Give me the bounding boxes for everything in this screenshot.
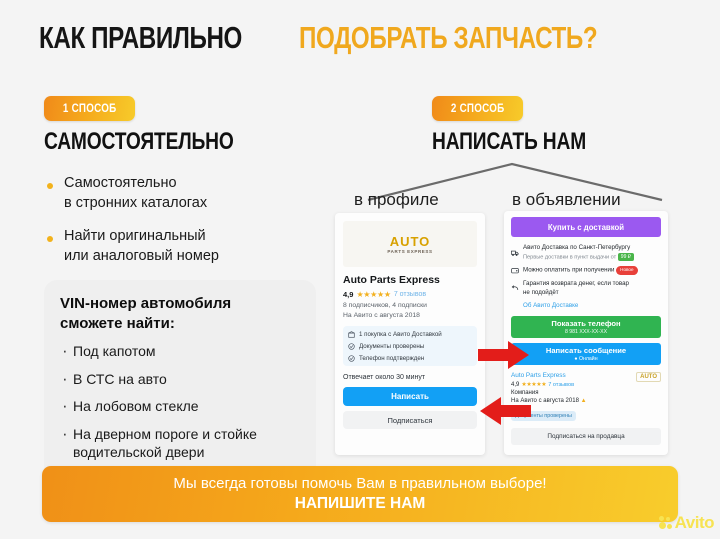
sublabel-advert: в объявлении (512, 190, 621, 210)
headline-part-1: КАК ПРАВИЛЬНО (39, 22, 242, 53)
write-message-button[interactable]: Написать сообщение ● Онлайн (511, 343, 661, 365)
seller-rating-row: 4,9 ★★★★★ 7 отзывов (511, 381, 661, 388)
bullet-text: Самостоятельно в стронних каталогах (64, 174, 207, 213)
method-2-badge: 2 СПОСОБ (432, 96, 523, 121)
phone-masked-text: 8 981 XXX-XX-XX (565, 329, 607, 335)
delivery-sub-text: Первые доставки в пункт выдачи от 99 ₽ (523, 253, 634, 261)
list-item: На лобовом стекле (60, 397, 300, 415)
headline-part-2: ПОДОБРАТЬ ЗАПЧАСТЬ? (299, 22, 597, 53)
avito-wordmark: Avito (675, 513, 714, 533)
profile-screenshot-card: AUTO PARTS EXPRESS Auto Parts Express 4,… (335, 213, 485, 455)
truck-icon (511, 244, 519, 261)
subscribe-button[interactable]: Подписаться (343, 411, 477, 429)
member-since-text: На Авито с августа 2018 (343, 312, 485, 319)
list-item: Авито Доставка по Санкт-Петербургу Первы… (511, 244, 661, 261)
seller-type-text: Компания (511, 390, 661, 396)
poster-root: КАК ПРАВИЛЬНО ПОДОБРАТЬ ЗАПЧАСТЬ? 1 СПОС… (0, 0, 720, 539)
show-phone-label: Показать телефон (551, 319, 620, 328)
delivery-main-text: Гарантия возврата денег, если товар не п… (523, 280, 629, 297)
reviews-link[interactable]: 7 отзывов (394, 291, 426, 298)
method-2-column: 2 СПОСОБ НАПИСАТЬ НАМ (432, 96, 625, 154)
write-message-label: Написать сообщение (546, 346, 626, 355)
vin-location-list: Под капотом В СТС на авто На лобовом сте… (60, 342, 300, 461)
trust-text: 1 покупка с Авито Доставкой (359, 331, 442, 338)
trust-text: Телефон подтвержден (359, 355, 424, 362)
delivery-main-text: Можно оплатить при получении Новое (523, 266, 638, 275)
arrow-left-icon (479, 396, 531, 426)
seller-since-text: На Авито с августа 2018 ▲ (511, 398, 661, 404)
method-1-badge: 1 СПОСОБ (44, 96, 135, 121)
shop-name: Auto Parts Express (343, 274, 485, 286)
answer-time-text: Отвечает около 30 минут (343, 374, 485, 381)
bullet-dot-icon (47, 236, 53, 242)
subscribe-seller-button[interactable]: Подписаться на продавца (511, 428, 661, 445)
vin-card-title: VIN-номер автомобиля сможете найти: (60, 294, 300, 333)
footer-line-2: НАПИШИТЕ НАМ (295, 495, 426, 513)
method-1-column: 1 СПОСОБ САМОСТОЯТЕЛЬНО Самостоятельно в… (44, 96, 344, 478)
list-item: Найти оригинальный или аналоговый номер (44, 227, 344, 266)
shop-logo-sub: PARTS EXPRESS (387, 249, 432, 254)
rating-value: 4,9 (343, 290, 353, 299)
method-1-title: САМОСТОЯТЕЛЬНО (44, 130, 344, 154)
delivery-info-list: Авито Доставка по Санкт-Петербургу Первы… (511, 244, 661, 309)
write-button[interactable]: Написать (343, 387, 477, 406)
method-2-badge-label: 2 СПОСОБ (451, 101, 505, 115)
footer-line-1: Мы всегда готовы помочь Вам в правильном… (173, 475, 546, 492)
vin-info-card: VIN-номер автомобиля сможете найти: Под … (44, 280, 316, 477)
check-circle-icon (348, 355, 355, 362)
list-item: Гарантия возврата денег, если товар не п… (511, 280, 661, 297)
shop-logo-main: AUTO (387, 235, 432, 248)
list-item: Можно оплатить при получении Новое (511, 266, 661, 275)
trust-text: Документы проверены (359, 343, 424, 350)
list-item: Под капотом (60, 342, 300, 360)
new-badge: Новое (616, 266, 637, 274)
method-1-bullets: Самостоятельно в стронних каталогах Найт… (44, 174, 344, 266)
delivery-box-icon (348, 331, 355, 338)
buy-with-delivery-button[interactable]: Купить с доставкой (511, 217, 661, 237)
seller-logo: AUTO (636, 372, 661, 382)
show-phone-button[interactable]: Показать телефон 8 981 XXX-XX-XX (511, 316, 661, 338)
bullet-text: Найти оригинальный или аналоговый номер (64, 227, 219, 266)
refund-arrow-icon (511, 280, 519, 297)
method-1-badge-label: 1 СПОСОБ (63, 101, 117, 115)
star-icon: ★★★★★ (521, 381, 546, 388)
delivery-main-text: Авито Доставка по Санкт-Петербургу (523, 244, 634, 252)
avito-watermark: Avito (659, 513, 714, 533)
check-circle-icon (348, 343, 355, 350)
star-icon: ★★★★★ (356, 290, 390, 299)
price-pill: 99 ₽ (618, 253, 634, 261)
list-item: Самостоятельно в стронних каталогах (44, 174, 344, 213)
footer-cta-banner: Мы всегда готовы помочь Вам в правильном… (42, 466, 678, 522)
list-item: Документы проверены (348, 343, 472, 350)
online-status-badge: ● Онлайн (574, 356, 597, 362)
seller-rating-value: 4,9 (511, 382, 519, 388)
list-item: 1 покупка с Авито Доставкой (348, 331, 472, 338)
seller-reviews-link[interactable]: 7 отзывов (548, 382, 574, 388)
list-item: В СТС на авто (60, 370, 300, 388)
bullet-dot-icon (47, 183, 53, 189)
rating-row: 4,9 ★★★★★ 7 отзывов (343, 290, 485, 299)
page-title: КАК ПРАВИЛЬНО ПОДОБРАТЬ ЗАПЧАСТЬ? (0, 22, 720, 53)
list-item: Телефон подтвержден (348, 355, 472, 362)
delivery-info-link[interactable]: Об Авито Доставке (523, 302, 661, 309)
seller-info-block: AUTO Auto Parts Express 4,9 ★★★★★ 7 отзы… (511, 372, 661, 422)
shop-logo: AUTO PARTS EXPRESS (343, 221, 477, 267)
method-2-title: НАПИСАТЬ НАМ (432, 130, 625, 154)
list-item: На дверном пороге и стойке водительской … (60, 425, 300, 462)
wallet-icon (511, 266, 519, 275)
trust-signals-box: 1 покупка с Авито Доставкой Документы пр… (343, 326, 477, 366)
avito-logo-icon (659, 516, 672, 530)
sublabel-profile: в профиле (354, 190, 439, 210)
arrow-right-icon (478, 340, 530, 370)
followers-text: 8 подписчиков, 4 подписки (343, 302, 485, 309)
